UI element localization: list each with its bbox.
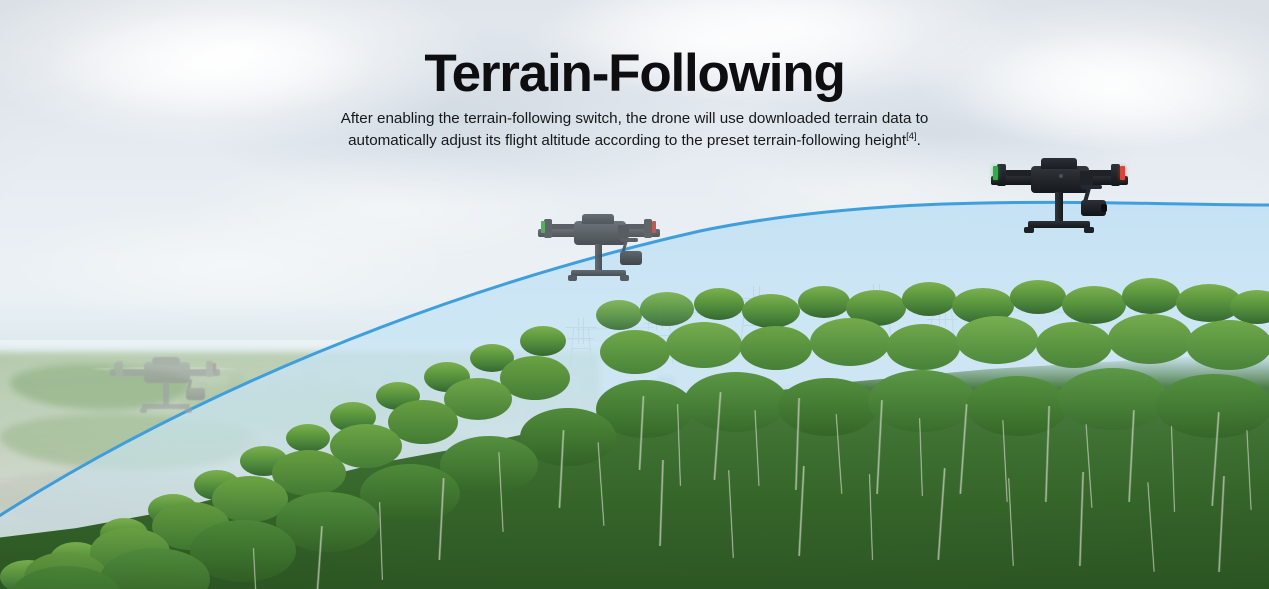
landing-skid xyxy=(1028,221,1090,228)
drone-right xyxy=(975,152,1143,242)
nav-light-green xyxy=(114,363,117,372)
landing-mast xyxy=(1055,192,1063,223)
landing-mast xyxy=(595,244,602,272)
landing-skid-foot xyxy=(140,408,147,413)
nav-light-red xyxy=(1120,166,1125,180)
landing-skid xyxy=(142,404,190,409)
nav-light-green xyxy=(541,221,545,233)
landing-mast xyxy=(163,382,169,406)
description-line-1: After enabling the terrain-following swi… xyxy=(0,108,1269,130)
drone-body xyxy=(144,362,190,383)
description-line-2: automatically adjust its flight altitude… xyxy=(0,130,1269,152)
page-description: After enabling the terrain-following swi… xyxy=(0,108,1269,151)
landing-skid-foot xyxy=(1024,227,1034,233)
footnote-marker: [4] xyxy=(906,131,917,142)
description-line-2-period: . xyxy=(917,132,921,149)
status-indicator xyxy=(1059,174,1063,178)
nav-light-red xyxy=(213,363,216,372)
motor-left xyxy=(116,361,123,377)
gimbal-yoke xyxy=(1081,185,1102,189)
motor-right xyxy=(206,361,213,377)
drone-body-top xyxy=(152,357,180,365)
drone-left xyxy=(96,348,232,420)
drone-body-front xyxy=(618,225,629,239)
description-line-2-text: automatically adjust its flight altitude… xyxy=(348,132,906,149)
gimbal-yoke xyxy=(620,238,638,242)
gimbal-camera xyxy=(620,251,642,265)
drone-body-top xyxy=(582,214,614,224)
drone-body-top xyxy=(1041,158,1077,169)
landing-skid-foot xyxy=(620,275,629,281)
page-title: Terrain-Following xyxy=(0,46,1269,102)
nav-light-green xyxy=(993,166,998,180)
motor-left xyxy=(544,219,552,238)
nav-light-red xyxy=(652,221,656,233)
camera-lens xyxy=(1101,204,1107,212)
hero-scene: Terrain-Following After enabling the ter… xyxy=(0,0,1269,589)
landing-skid-foot xyxy=(185,408,192,413)
motor-right xyxy=(644,219,652,238)
motor-right xyxy=(1111,164,1120,186)
gimbal-camera xyxy=(186,388,205,400)
motor-left xyxy=(997,164,1006,186)
landing-skid xyxy=(571,270,626,276)
landing-skid-foot xyxy=(1084,227,1094,233)
drone-middle xyxy=(522,207,674,289)
landing-skid-foot xyxy=(568,275,577,281)
